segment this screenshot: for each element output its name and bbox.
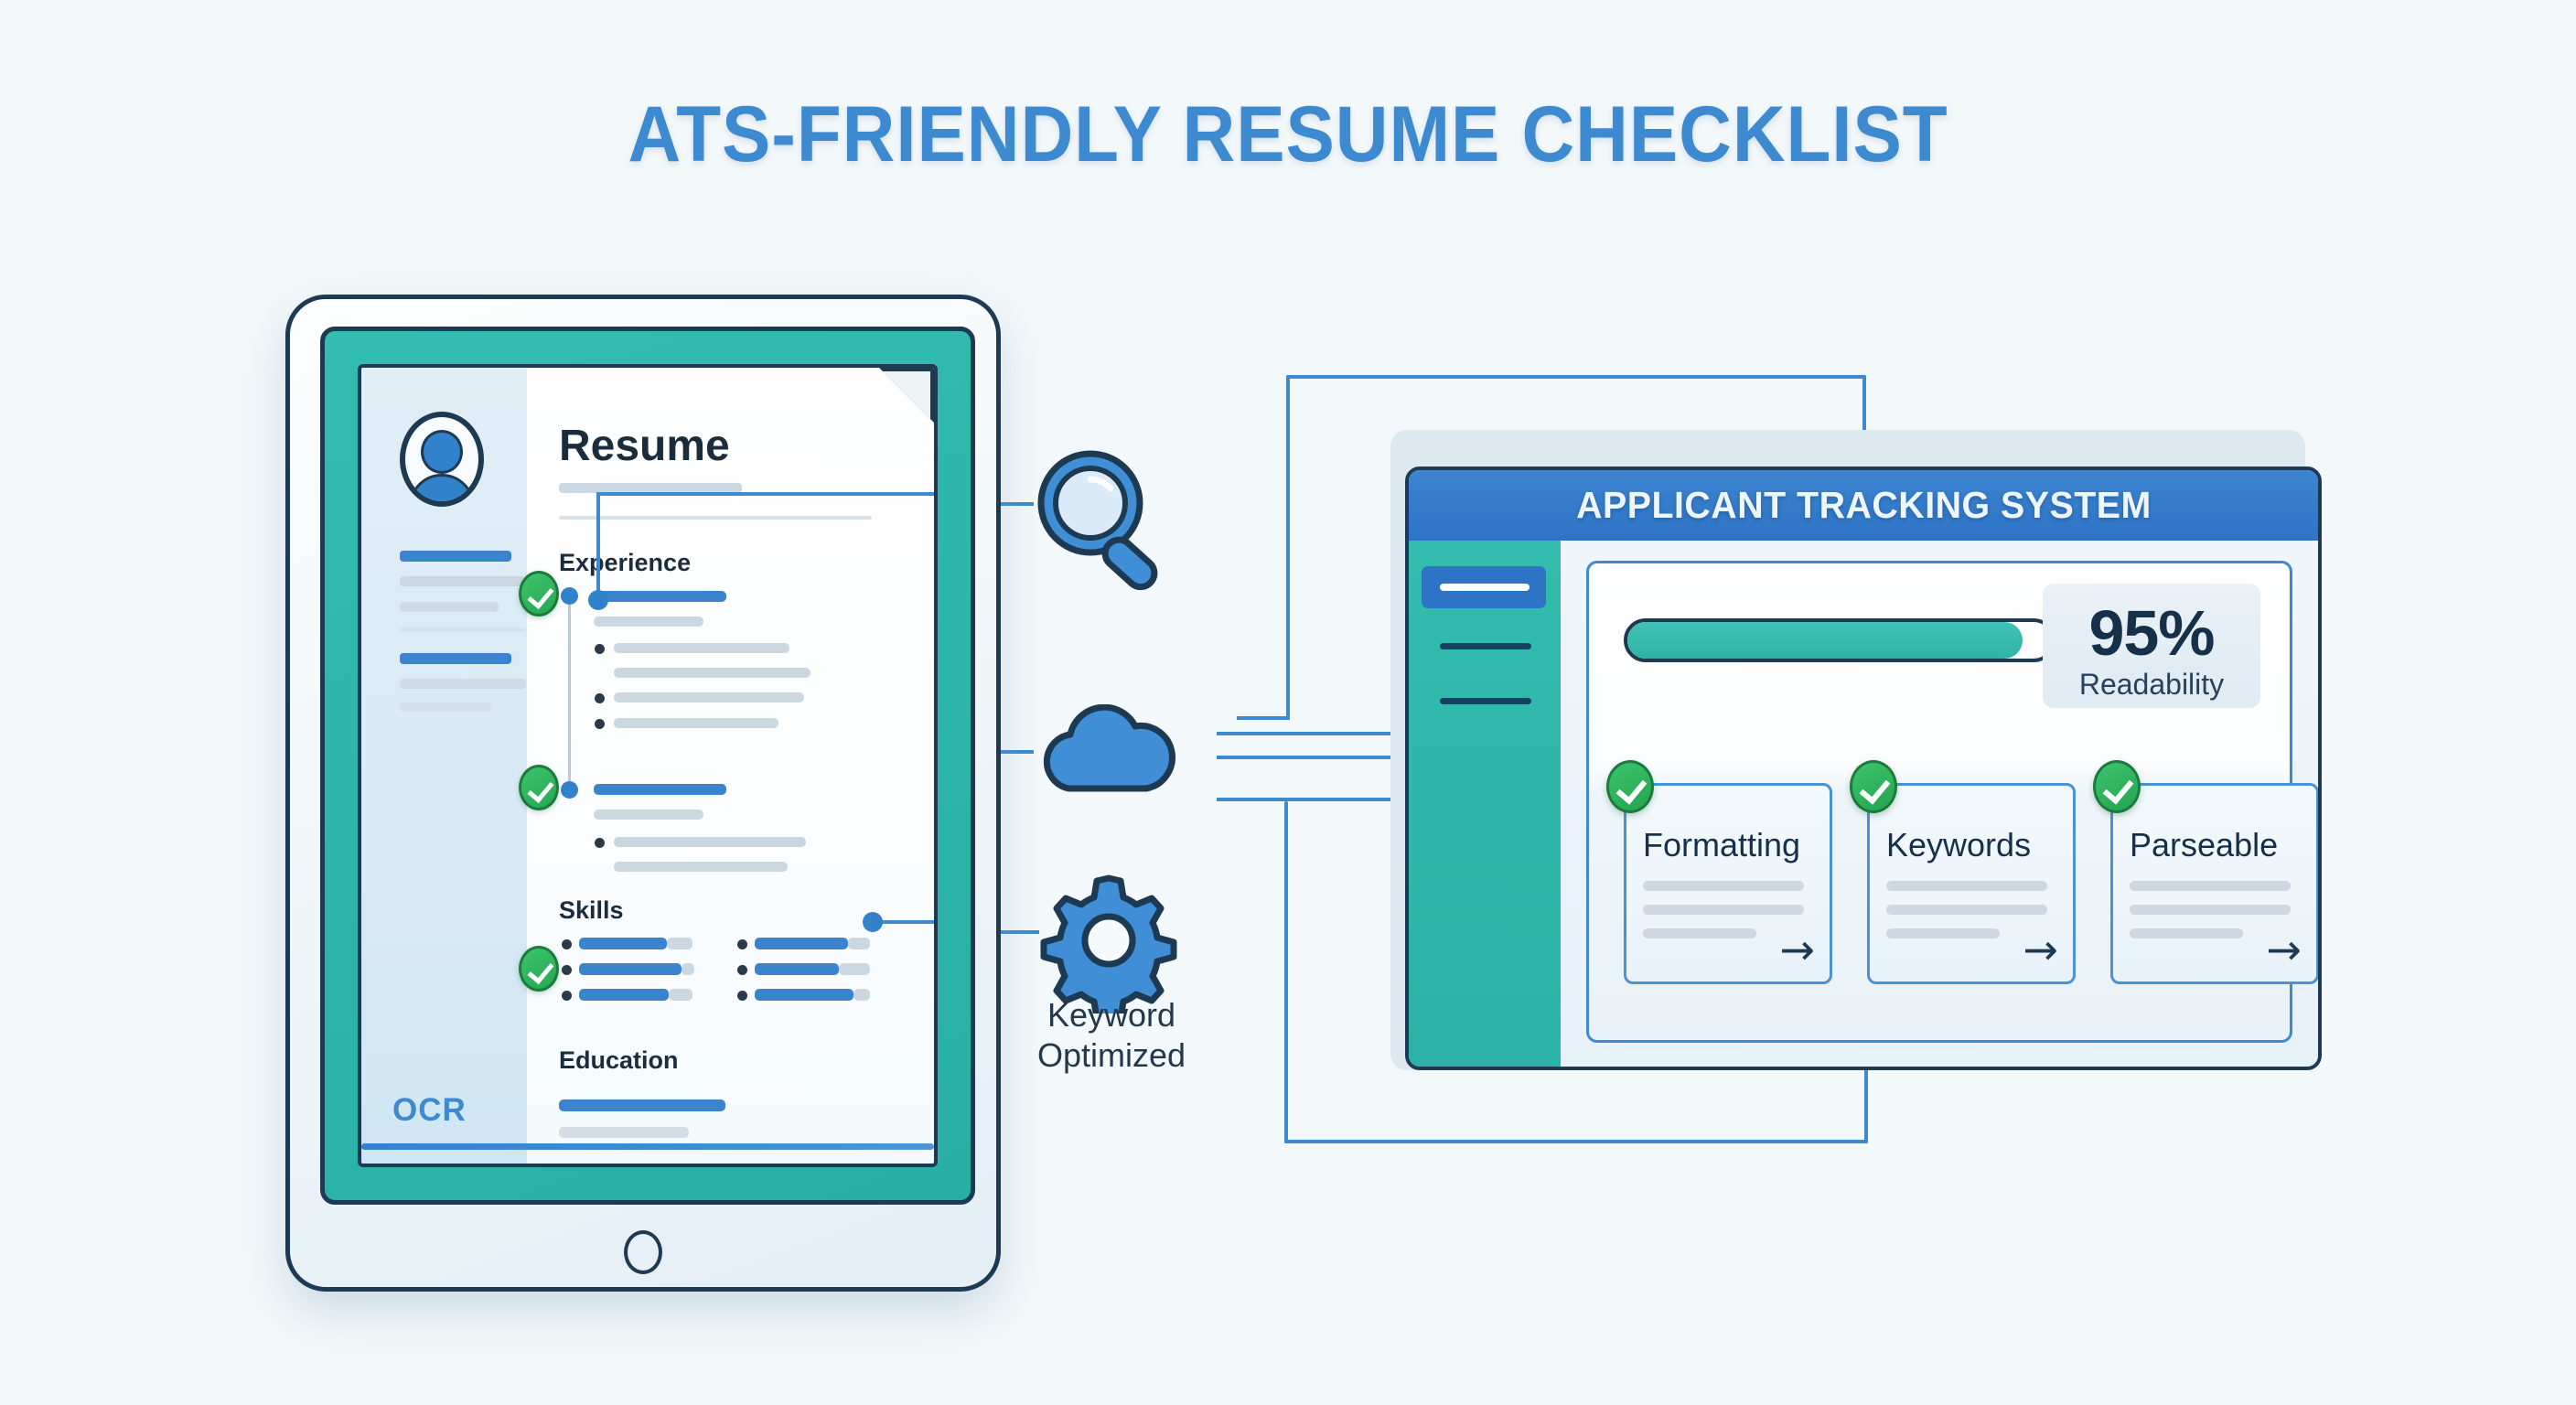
check-circle-icon xyxy=(1606,760,1654,813)
tablet-device: OCR Resume Experience xyxy=(285,295,1001,1292)
ats-results-card: 95% Readability Formatting → Keywords xyxy=(1586,561,2292,1043)
skill-bar xyxy=(755,989,853,1001)
skill-bar xyxy=(755,963,839,975)
skill-bar xyxy=(755,938,848,949)
readability-score-label: Readability xyxy=(2043,668,2260,702)
ats-card-title: Formatting xyxy=(1643,826,1800,864)
ats-card-line xyxy=(1886,881,2047,891)
resume-heading: Resume xyxy=(559,421,730,471)
check-circle-icon xyxy=(519,765,559,810)
ats-card-line xyxy=(1886,905,2047,915)
check-circle-icon xyxy=(519,571,559,617)
timeline-dot xyxy=(561,781,578,799)
resume-line xyxy=(559,1127,689,1138)
bullet-dot xyxy=(562,965,572,975)
avatar-head xyxy=(421,430,463,474)
bullet-dot xyxy=(595,719,605,729)
tablet-bezel: OCR Resume Experience xyxy=(320,327,975,1205)
skill-bar xyxy=(579,938,667,949)
magnifier-icon xyxy=(1026,446,1191,602)
resume-line xyxy=(594,591,726,602)
connector-gear-horizontal-bottom xyxy=(1284,1140,1868,1143)
check-circle-icon xyxy=(2093,760,2141,813)
callout-magnifier-branch-down xyxy=(596,492,600,600)
bullet-dot xyxy=(562,939,572,949)
ats-card-line xyxy=(2130,881,2291,891)
skill-bar-track xyxy=(669,989,692,1001)
skill-bar xyxy=(579,963,682,975)
skill-bar-track xyxy=(682,963,694,975)
ats-card-line xyxy=(1886,928,2000,938)
sidebar-line xyxy=(400,679,526,689)
connector-magnifier-horizontal xyxy=(1286,375,1866,379)
page-title: ATS-FRIENDLY RESUME CHECKLIST xyxy=(91,90,2486,180)
ats-card-line xyxy=(1643,881,1804,891)
sidebar-line xyxy=(400,653,511,664)
resume-line xyxy=(614,718,778,728)
bullet-dot xyxy=(595,644,605,654)
resume-line xyxy=(614,643,789,653)
callout-dot-experience xyxy=(588,590,608,610)
readability-score-box: 95% Readability xyxy=(2043,584,2260,708)
callout-dot-skills xyxy=(863,912,883,932)
readability-progress-fill xyxy=(1627,622,2023,659)
arrow-right-icon[interactable]: → xyxy=(2023,928,2058,971)
bullet-dot xyxy=(562,991,572,1001)
ats-sidebar xyxy=(1409,541,1563,1067)
page-fold-corner-inner xyxy=(883,371,930,419)
skill-bar-track xyxy=(853,989,870,1001)
check-circle-icon xyxy=(1850,760,1897,813)
bullet-dot xyxy=(737,965,747,975)
skill-bar-track xyxy=(848,938,870,949)
sidebar-line xyxy=(400,551,511,562)
resume-line xyxy=(614,862,788,872)
resume-line xyxy=(614,668,810,678)
ats-card-line xyxy=(2130,928,2243,938)
ocr-label: OCR xyxy=(392,1092,467,1129)
resume-divider xyxy=(559,516,872,520)
skill-bar-track xyxy=(839,963,870,975)
keyword-optimized-line2: Optimized xyxy=(1037,1036,1186,1074)
ats-check-card-parseable[interactable]: Parseable → xyxy=(2110,783,2319,984)
connector-gear-vertical-left xyxy=(1284,801,1288,1143)
keyword-optimized-label: Keyword Optimized xyxy=(993,995,1230,1076)
bullet-dot xyxy=(595,693,605,703)
sidebar-line xyxy=(400,627,526,632)
section-heading-education: Education xyxy=(559,1046,679,1075)
section-heading-skills: Skills xyxy=(559,896,624,925)
arrow-right-icon[interactable]: → xyxy=(1779,928,1815,971)
timeline-dot xyxy=(561,587,578,605)
section-heading-experience: Experience xyxy=(559,549,691,577)
home-button[interactable] xyxy=(624,1230,662,1274)
sidebar-line xyxy=(400,602,499,612)
infographic-canvas: ATS-FRIENDLY RESUME CHECKLIST APPLICANT … xyxy=(0,0,2576,1405)
ats-nav-item-2[interactable] xyxy=(1440,643,1531,649)
connector-magnifier-stub-left xyxy=(1237,716,1290,720)
resume-line xyxy=(559,1165,725,1167)
skill-bar xyxy=(579,989,669,1001)
ats-check-card-keywords[interactable]: Keywords → xyxy=(1867,783,2076,984)
bullet-dot xyxy=(737,939,747,949)
ats-card-line xyxy=(1643,905,1804,915)
avatar xyxy=(400,412,484,507)
ats-nav-item-active[interactable] xyxy=(1422,566,1546,608)
resume-line xyxy=(614,692,804,702)
ats-title: APPLICANT TRACKING SYSTEM xyxy=(1576,484,2152,527)
callout-magnifier-branch-top xyxy=(598,492,938,496)
ats-nav-item-3[interactable] xyxy=(1440,698,1531,704)
timeline-connector xyxy=(568,596,571,790)
sidebar-line xyxy=(400,702,491,712)
bullet-dot xyxy=(595,838,605,848)
connector-cloud-horizontal xyxy=(1217,756,1411,759)
ats-body: 95% Readability Formatting → Keywords xyxy=(1561,541,2318,1067)
tablet-screen: OCR Resume Experience xyxy=(358,364,938,1167)
readability-score-value: 95% xyxy=(2043,596,2260,670)
sidebar-line xyxy=(400,576,525,586)
ats-card-line xyxy=(2130,905,2291,915)
resume-line xyxy=(594,810,703,820)
check-circle-icon xyxy=(519,946,559,992)
ats-card-title: Keywords xyxy=(1886,826,2031,864)
cloud-icon xyxy=(1032,704,1187,805)
arrow-right-icon[interactable]: → xyxy=(2266,928,2302,971)
resume-line xyxy=(594,784,726,795)
ats-header-bar: APPLICANT TRACKING SYSTEM xyxy=(1409,470,2318,543)
connector-magnifier-vertical-left xyxy=(1286,375,1290,720)
ats-check-card-formatting[interactable]: Formatting → xyxy=(1624,783,1832,984)
ats-card-title: Parseable xyxy=(2130,826,2278,864)
skill-bar-track xyxy=(667,938,692,949)
gear-icon xyxy=(1036,867,1182,1014)
resume-line xyxy=(594,617,703,627)
keyword-optimized-line1: Keyword xyxy=(1047,996,1175,1034)
bullet-dot xyxy=(737,991,747,1001)
readability-progress-bar xyxy=(1624,618,2055,662)
ats-card-line xyxy=(1643,928,1756,938)
resume-line xyxy=(559,1099,725,1111)
ocr-scan-line xyxy=(361,1143,934,1150)
applicant-tracking-system-panel: APPLICANT TRACKING SYSTEM 95% Readabilit… xyxy=(1405,467,2322,1070)
resume-line xyxy=(614,837,806,847)
